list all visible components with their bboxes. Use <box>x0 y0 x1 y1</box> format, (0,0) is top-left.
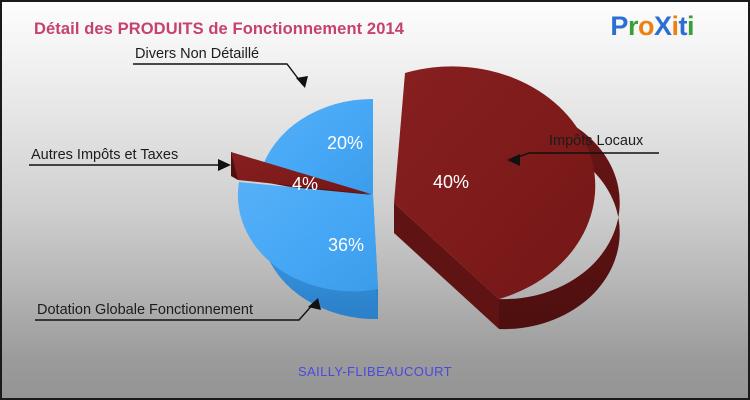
chart-canvas: Détail des PRODUITS de Fonctionnement 20… <box>0 0 750 400</box>
callout-line-divers <box>133 64 303 85</box>
label-impots-pct: 40% <box>433 172 469 192</box>
callout-label-divers: Divers Non Détaillé <box>135 46 259 62</box>
label-dotation-pct: 36% <box>328 235 364 255</box>
label-autres-pct: 4% <box>292 174 318 194</box>
callout-arrow-divers <box>296 76 308 88</box>
callout-label-impots: Impôts Locaux <box>549 133 643 149</box>
label-divers-pct: 20% <box>327 133 363 153</box>
slice-top-impots <box>394 66 595 299</box>
callout-arrow-autres <box>218 159 231 171</box>
pie-chart: 20% 4% 36% 40% <box>2 2 748 398</box>
callout-label-dotation: Dotation Globale Fonctionnement <box>37 302 253 318</box>
callout-label-autres: Autres Impôts et Taxes <box>31 147 178 163</box>
commune-name: SAILLY-FLIBEAUCOURT <box>2 364 748 379</box>
